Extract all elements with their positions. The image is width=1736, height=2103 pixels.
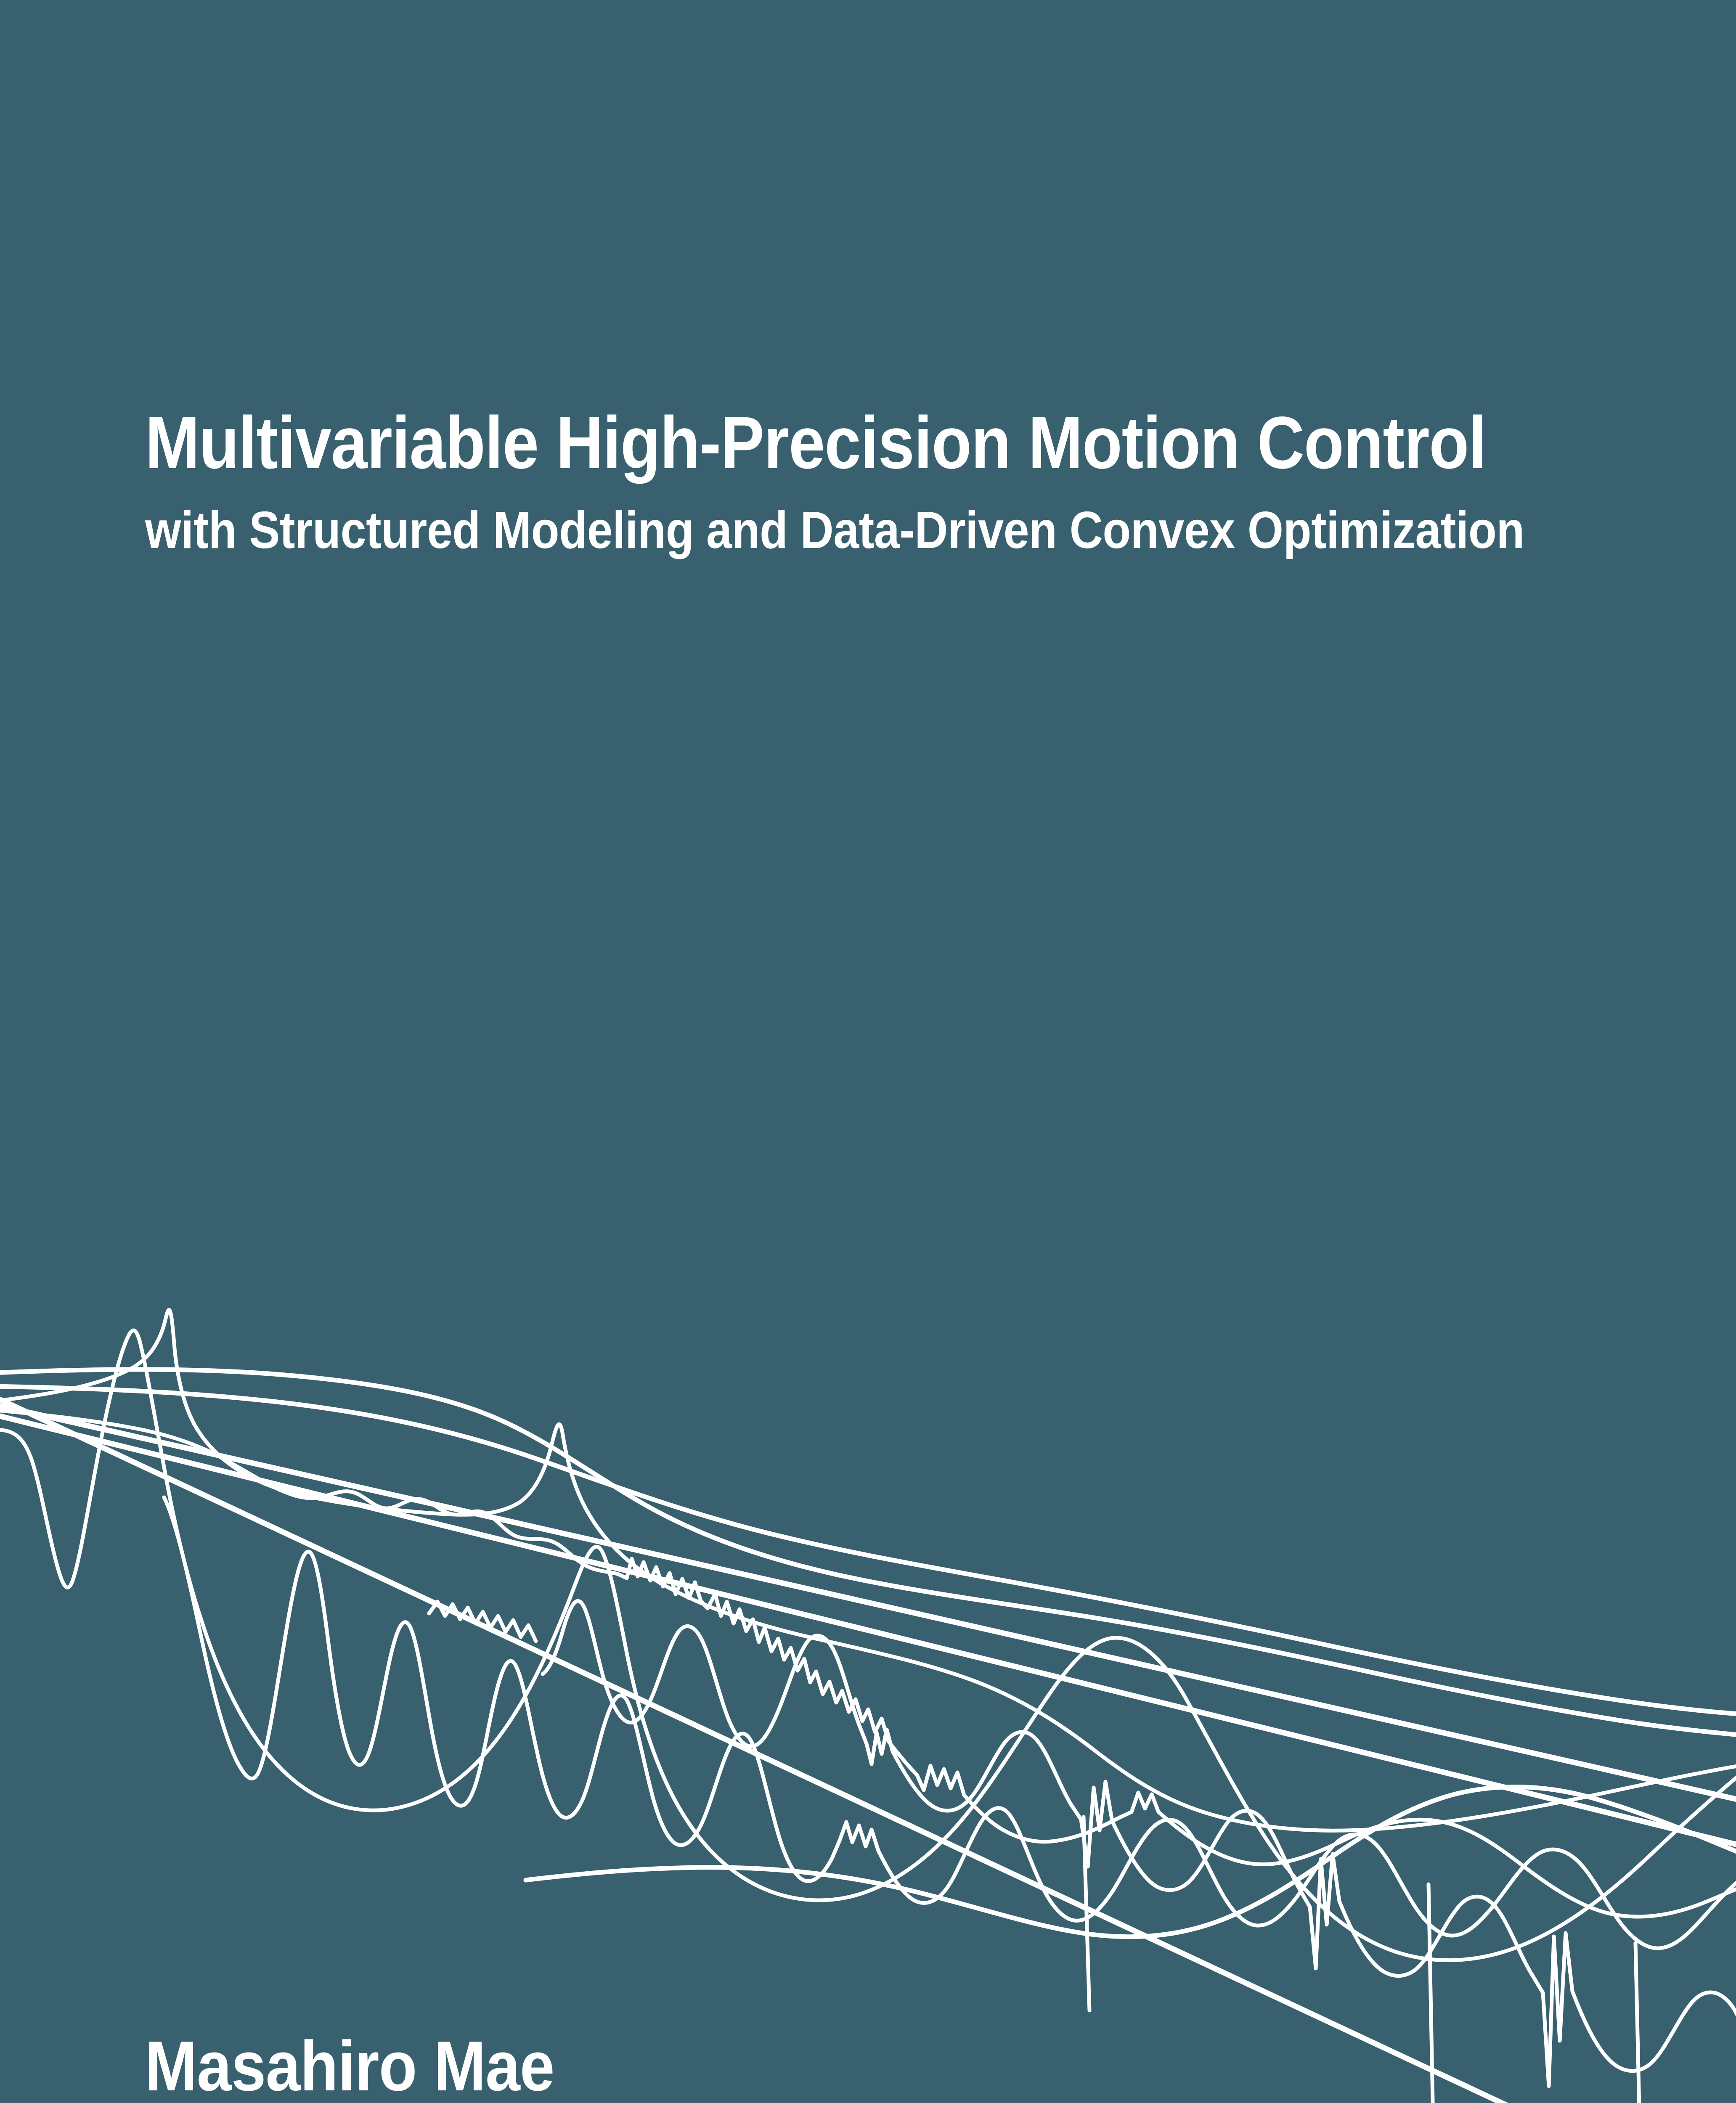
trace-mid-dome <box>526 1787 1736 1936</box>
trace-straight-slope-3 <box>0 1414 1736 1846</box>
book-subtitle: with Structured Modeling and Data-Driven… <box>145 503 1426 559</box>
trace-ripple-cluster <box>429 1602 536 1641</box>
trace-noisy-measured-2 <box>164 1497 1736 1948</box>
trace-resonant-peak-2 <box>0 1330 1736 1960</box>
trace-straight-slope-2 <box>0 1404 1736 1801</box>
title-block: Multivariable High-Precision Motion Cont… <box>145 404 1592 559</box>
trace-noisy-measured-3 <box>543 1601 1736 2086</box>
cover-artwork <box>0 0 1736 2103</box>
trace-straight-slope-1 <box>0 1396 1736 2103</box>
book-cover: Multivariable High-Precision Motion Cont… <box>0 0 1736 2103</box>
trace-notch-stem-1 <box>1084 1817 1089 2010</box>
trace-smooth-rolloff-b <box>0 1386 1736 1714</box>
author-name: Masahiro Mae <box>145 2031 554 2101</box>
trace-notch-stem-3 <box>1635 1943 1641 2103</box>
trace-resonant-peak-1 <box>0 1310 1736 1830</box>
trace-noisy-measured-1 <box>0 1410 1736 1917</box>
trace-smooth-rolloff-a <box>0 1369 1736 1735</box>
author-block: Masahiro Mae <box>145 2031 607 2101</box>
trace-notch-stem-2 <box>1429 1884 1434 2103</box>
book-title: Multivariable High-Precision Motion Cont… <box>145 404 1426 482</box>
